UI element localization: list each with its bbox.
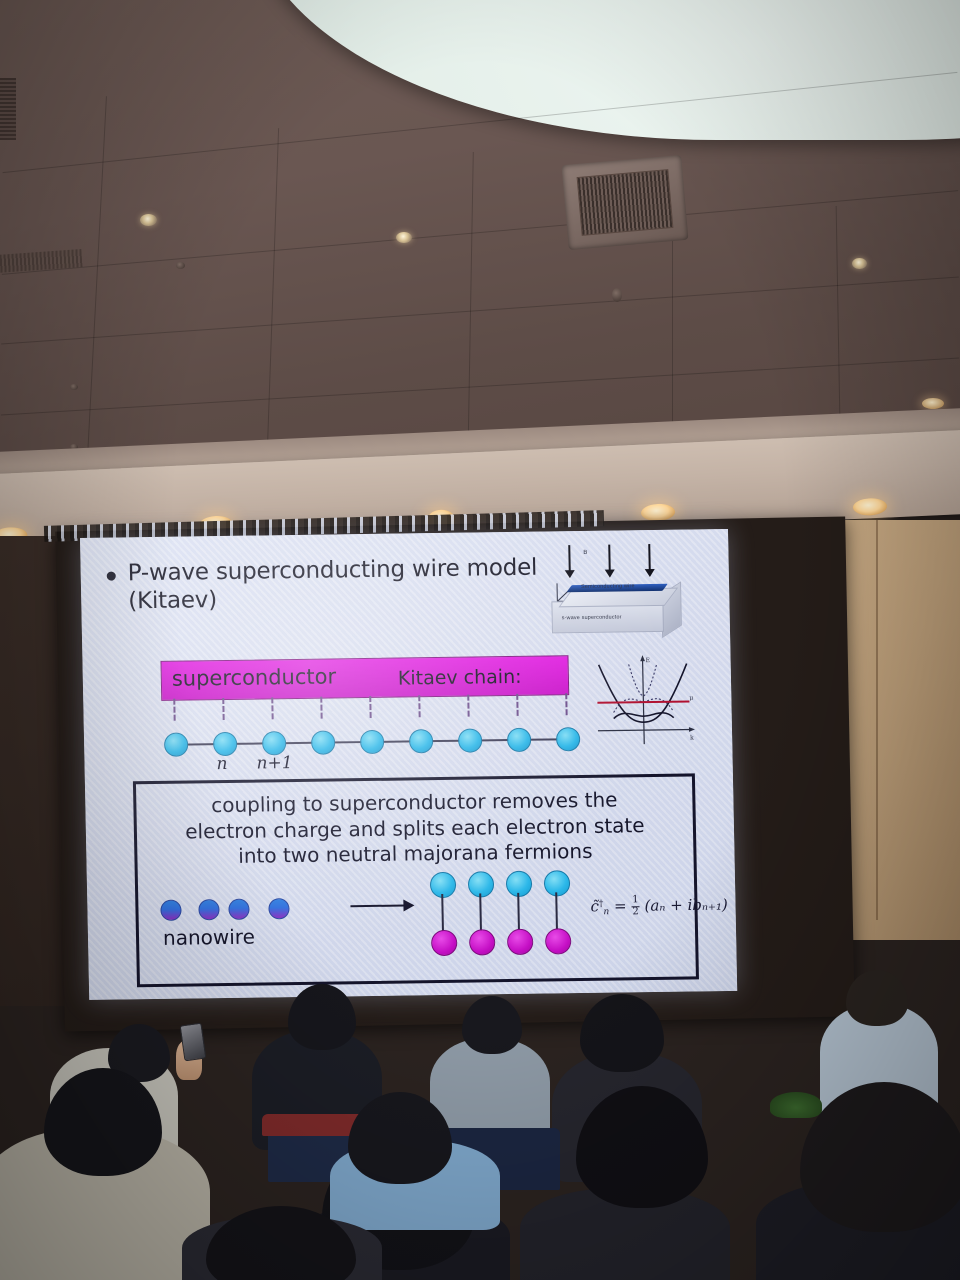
ceiling-sprinkler-icon — [612, 288, 622, 302]
nanowire-label: nanowire — [163, 925, 255, 950]
nanowire-electron-node — [198, 899, 219, 920]
chain-site-node — [360, 730, 384, 754]
recessed-light-icon — [140, 214, 157, 226]
potted-plant — [770, 1092, 822, 1118]
majorana-pair — [468, 871, 494, 955]
majorana-b-node — [431, 930, 458, 956]
formula-equals: = — [614, 897, 627, 915]
formula-frac-den: 2 — [632, 906, 639, 917]
wire-label: Semiconducting wire — [581, 583, 635, 590]
majorana-b-node — [507, 929, 534, 955]
chain-site-node — [164, 733, 188, 757]
inset-band-structure: E k μ — [588, 651, 698, 750]
chain-site-node — [409, 729, 433, 753]
chain-site-node — [262, 731, 286, 755]
nanowire-electron-node — [160, 900, 181, 921]
hvac-vent-icon — [562, 155, 689, 250]
majorana-b-node — [545, 928, 572, 954]
bullet-dot-icon — [107, 572, 116, 581]
field-label: B — [583, 550, 587, 556]
substrate-label: s-wave superconductor — [562, 614, 622, 621]
chain-site-node — [311, 730, 335, 754]
chain-site-node — [213, 732, 237, 756]
audience-head — [846, 970, 908, 1026]
svg-text:μ: μ — [689, 694, 693, 701]
ceiling-grille-icon — [0, 249, 83, 273]
band-structure-plot: E k μ — [588, 651, 698, 750]
ceiling-fixture-icon — [70, 384, 78, 390]
majorana-pair — [430, 872, 456, 956]
downlight-icon — [853, 498, 888, 517]
superconductor-label: superconductor — [172, 664, 337, 690]
formula-fraction: 1 2 — [631, 895, 640, 917]
majorana-group — [430, 870, 582, 956]
recessed-light-icon — [852, 258, 867, 269]
ceiling — [0, 0, 960, 470]
bullet-line-2: (Kitaev) — [128, 582, 538, 616]
chain-site-node — [556, 727, 580, 751]
field-arrow-icon — [608, 545, 611, 571]
inset-nanowire-diagram: B Semiconducting wire s-wave superconduc… — [546, 544, 688, 651]
formula-lhs-sub: n — [603, 907, 609, 917]
site-label-n-plus-1: n+1 — [256, 753, 292, 773]
ceiling-cove-light — [250, 0, 960, 140]
nanowire-group: nanowire — [160, 887, 337, 959]
statement-text: coupling to superconductor removes the e… — [148, 787, 681, 871]
nanowire-electron-node — [268, 898, 289, 919]
field-arrow-icon — [648, 544, 651, 570]
recessed-light-icon — [396, 232, 412, 243]
site-label-n: n — [216, 754, 227, 774]
kitaev-chain-label: Kitaev chain: — [398, 666, 522, 690]
transform-arrow-icon — [350, 904, 412, 907]
wall-grille-icon — [0, 78, 16, 140]
field-arrow-icon — [568, 545, 571, 571]
bullet-text: P-wave superconducting wire model (Kitae… — [127, 554, 538, 616]
lecture-hall-photo: P-wave superconducting wire model (Kitae… — [0, 0, 960, 1280]
bullet-line-1: P-wave superconducting wire model — [127, 554, 537, 588]
chain-site-node — [507, 728, 531, 752]
majorana-formula: c̃†n = 1 2 (aₙ + ibₙ₊₁) — [590, 894, 728, 918]
recessed-light-icon — [922, 398, 944, 409]
chain-site-node — [458, 728, 482, 752]
ceiling-fixture-icon — [176, 262, 185, 269]
statement-box: coupling to superconductor removes the e… — [133, 773, 699, 987]
svg-text:E: E — [646, 657, 651, 664]
svg-text:k: k — [690, 734, 694, 741]
slide-bullet: P-wave superconducting wire model (Kitae… — [106, 553, 557, 615]
wall-seam — [876, 520, 878, 920]
majorana-b-node — [469, 929, 496, 955]
nanowire-electron-node — [228, 899, 249, 920]
kitaev-chain-diagram: n n+1 — [161, 693, 582, 771]
majorana-pair — [506, 871, 532, 955]
formula-rhs: (aₙ + ibₙ₊₁) — [644, 895, 728, 914]
majorana-pair — [544, 870, 570, 954]
projected-slide: P-wave superconducting wire model (Kitae… — [80, 529, 737, 1000]
